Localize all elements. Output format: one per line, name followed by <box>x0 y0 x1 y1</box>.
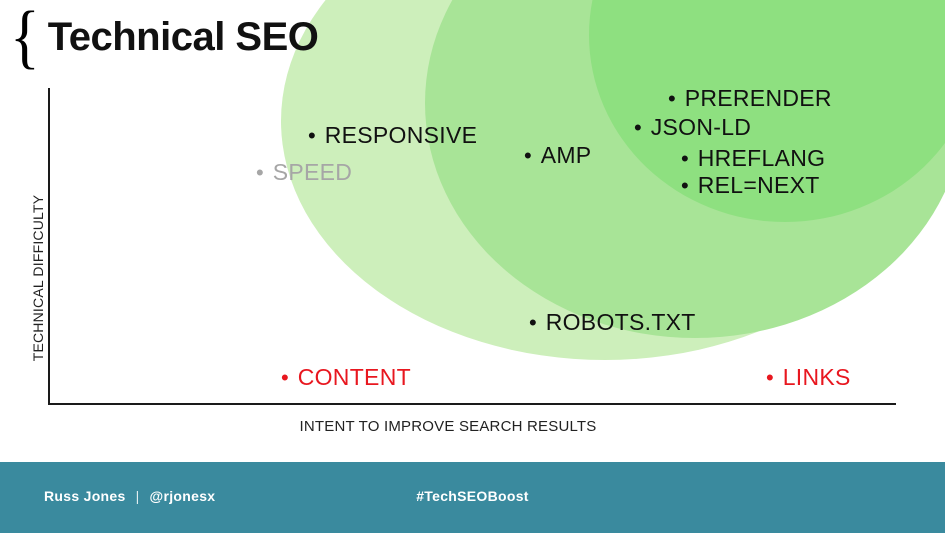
bullet-icon: • <box>256 162 264 184</box>
data-point-rel-next: • REL=NEXT <box>681 172 820 199</box>
data-point-label: SPEED <box>273 159 352 186</box>
footer-hashtag: #TechSEOBoost <box>0 488 945 504</box>
page-title: { Technical SEO <box>10 14 318 60</box>
bullet-icon: • <box>281 367 289 389</box>
data-point-label: CONTENT <box>298 364 411 391</box>
bullet-icon: • <box>529 312 537 334</box>
bubble-zone-outer <box>281 0 929 360</box>
data-point-robots-txt: • ROBOTS.TXT <box>529 309 696 336</box>
page-title-text: Technical SEO <box>48 15 319 60</box>
bullet-icon: • <box>681 148 689 170</box>
data-point-amp: • AMP <box>524 142 591 169</box>
footer-bar: Russ Jones | @rjonesx #TechSEOBoost <box>0 462 945 533</box>
bullet-icon: • <box>766 367 774 389</box>
data-point-speed: • SPEED <box>256 159 352 186</box>
data-point-label: JSON-LD <box>651 114 752 141</box>
bullet-icon: • <box>668 88 676 110</box>
bullet-icon: • <box>681 175 689 197</box>
x-axis-line <box>48 403 896 405</box>
data-point-label: RESPONSIVE <box>325 122 478 149</box>
brace-icon: { <box>10 11 40 64</box>
data-point-label: LINKS <box>783 364 851 391</box>
data-point-responsive: • RESPONSIVE <box>308 122 477 149</box>
bubble-zones <box>0 0 945 462</box>
bullet-icon: • <box>308 125 316 147</box>
data-point-prerender: • PRERENDER <box>668 85 832 112</box>
bullet-icon: • <box>524 145 532 167</box>
y-axis-line <box>48 88 50 405</box>
data-point-json-ld: • JSON-LD <box>634 114 751 141</box>
data-point-hreflang: • HREFLANG <box>681 145 825 172</box>
data-point-label: AMP <box>541 142 592 169</box>
bullet-icon: • <box>634 117 642 139</box>
data-point-links: • LINKS <box>766 364 851 391</box>
slide-canvas: { Technical SEO TECHNICAL DIFFICULTY INT… <box>0 0 945 533</box>
data-point-label: REL=NEXT <box>698 172 820 199</box>
data-point-label: HREFLANG <box>698 145 826 172</box>
y-axis-label: TECHNICAL DIFFICULTY <box>30 168 46 388</box>
x-axis-label: INTENT TO IMPROVE SEARCH RESULTS <box>48 418 848 435</box>
data-point-label: ROBOTS.TXT <box>546 309 696 336</box>
data-point-label: PRERENDER <box>685 85 832 112</box>
data-point-content: • CONTENT <box>281 364 411 391</box>
